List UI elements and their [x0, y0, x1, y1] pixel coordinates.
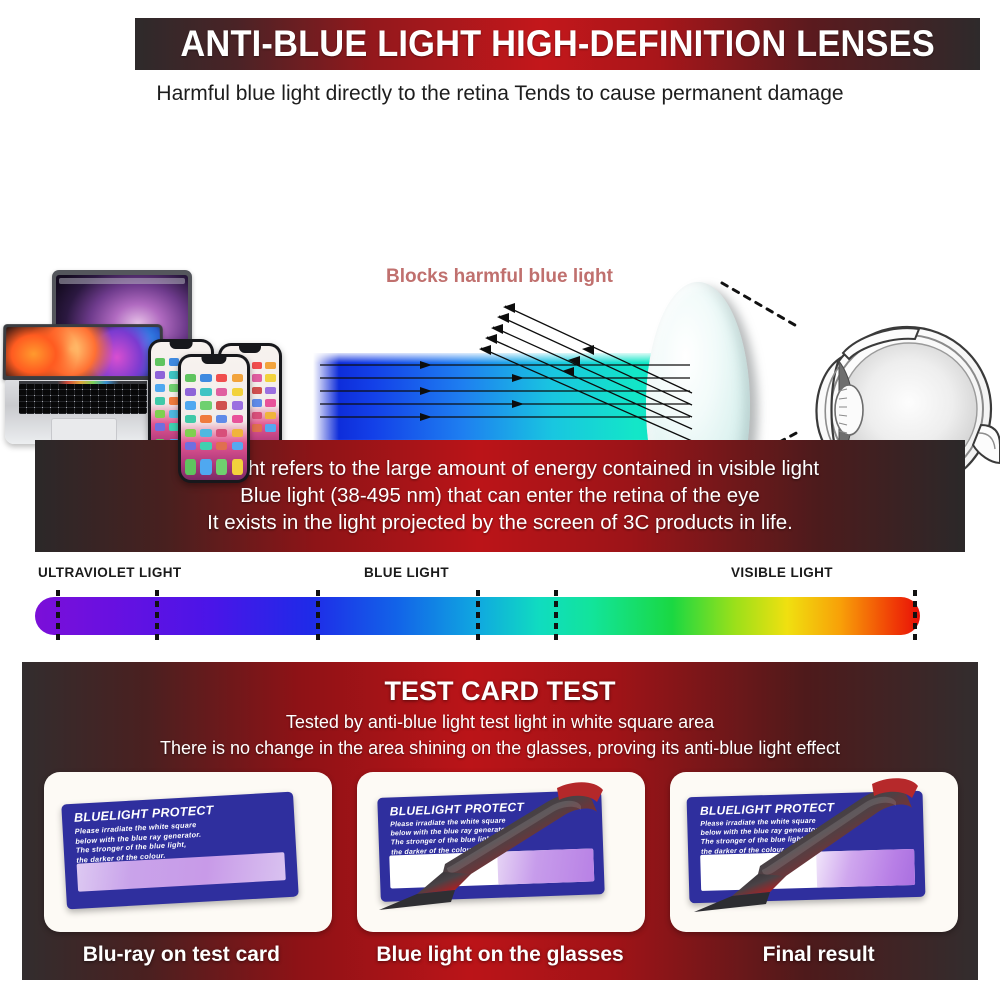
- laptop-device: [3, 324, 163, 446]
- phone-app-icon: [216, 388, 227, 396]
- phone-app-icon: [232, 442, 243, 450]
- phone-app-icon: [200, 442, 211, 450]
- bluelight-test-card: BLUELIGHT PROTECT Please irradiate the w…: [687, 791, 926, 904]
- phone-app-icon: [185, 429, 196, 437]
- panel-final-result: BLUELIGHT PROTECT Please irradiate the w…: [670, 772, 958, 932]
- phone-app-icon: [265, 374, 275, 382]
- spectrum-label-blue: BLUE LIGHT: [364, 565, 449, 580]
- phone-dock-icon: [232, 459, 243, 475]
- phone-notch: [239, 346, 261, 353]
- phone-dock-icon: [200, 459, 211, 475]
- blue-light-info-panel: Blue light refers to the large amount of…: [35, 440, 965, 552]
- light-ray-arrows: [300, 275, 720, 465]
- phone-app-icon: [265, 399, 275, 407]
- test-card-title: BLUELIGHT PROTECT: [700, 800, 835, 818]
- hero-illustration: Blocks harmful blue light: [0, 125, 1000, 430]
- test-card-purple-area: [497, 848, 594, 884]
- phone-app-icon: [232, 388, 243, 396]
- phone-app-icon: [252, 412, 262, 420]
- panel-captions-row: Blu-ray on test card Blue light on the g…: [22, 930, 978, 980]
- phone-app-icon: [252, 387, 262, 395]
- phone-app-icon: [155, 384, 165, 392]
- phone-app-icon: [155, 423, 165, 431]
- phone-notch: [170, 342, 193, 349]
- caption-blu-ray-on-test-card: Blu-ray on test card: [22, 943, 341, 967]
- test-section-title: TEST CARD TEST: [22, 676, 978, 707]
- phone-app-icon: [265, 424, 275, 432]
- laptop-base: [5, 380, 161, 444]
- phone-app-icon: [216, 401, 227, 409]
- phone-app-icon: [232, 401, 243, 409]
- laptop-trackpad: [51, 418, 117, 442]
- laptop-lid: [3, 324, 164, 380]
- laptop-keyboard: [19, 384, 147, 414]
- bluelight-test-card: BLUELIGHT PROTECT Please irradiate the w…: [61, 792, 298, 910]
- phone-app-icon: [252, 399, 262, 407]
- header-banner: ANTI-BLUE LIGHT HIGH-DEFINITION LENSES: [135, 18, 980, 70]
- phone-dock: [185, 459, 243, 475]
- info-line: Blue light (38-495 nm) that can enter th…: [240, 484, 760, 508]
- phone-app-icon: [155, 358, 165, 366]
- phone-app-icon: [252, 424, 262, 432]
- phone-app-icon: [155, 397, 165, 405]
- phone-app-icon: [185, 374, 196, 382]
- caption-final-result: Final result: [659, 943, 978, 967]
- phone-notch: [201, 357, 226, 364]
- spectrum-tick: [554, 590, 558, 642]
- monitor-menu-bar: [59, 278, 185, 284]
- spectrum-tick: [476, 590, 480, 642]
- phone-app-icon: [200, 401, 211, 409]
- phone-app-icon: [200, 388, 211, 396]
- panel-blue-light-on-the-glasses: BLUELIGHT PROTECT Please irradiate the w…: [357, 772, 645, 932]
- phone-app-icon: [185, 415, 196, 423]
- phone-app-icon: [185, 401, 196, 409]
- phone-app-icon: [200, 429, 211, 437]
- spectrum-tick: [913, 590, 917, 642]
- phone-app-icon: [232, 374, 243, 382]
- test-card-body: Please irradiate the white square below …: [700, 817, 821, 857]
- phone-dock-icon: [185, 459, 196, 475]
- phone-app-icon: [216, 429, 227, 437]
- test-section-subtitle: Tested by anti-blue light test light in …: [22, 712, 978, 733]
- spectrum-label-visible: VISIBLE LIGHT: [731, 565, 833, 580]
- spectrum-label-ultraviolet: ULTRAVIOLET LIGHT: [38, 565, 182, 580]
- info-line: It exists in the light projected by the …: [207, 511, 793, 535]
- phone-app-grid: [185, 374, 243, 450]
- phone-app-icon: [216, 374, 227, 382]
- phone-app-icon: [265, 412, 275, 420]
- phone-app-icon: [216, 442, 227, 450]
- phone-device: [178, 354, 250, 483]
- page-title: ANTI-BLUE LIGHT HIGH-DEFINITION LENSES: [180, 23, 935, 65]
- phone-app-icon: [185, 388, 196, 396]
- spectrum-tick: [56, 590, 60, 642]
- test-section-subtitle: There is no change in the area shining o…: [22, 738, 978, 759]
- phone-app-icon: [155, 410, 165, 418]
- phone-screen: [181, 357, 247, 480]
- panel-blu-ray-on-test-card: BLUELIGHT PROTECT Please irradiate the w…: [44, 772, 332, 932]
- spectrum-tick: [316, 590, 320, 642]
- info-line: Blue light refers to the large amount of…: [181, 457, 819, 481]
- phone-app-icon: [232, 415, 243, 423]
- phone-app-icon: [200, 415, 211, 423]
- phone-app-icon: [185, 442, 196, 450]
- phone-app-icon: [155, 371, 165, 379]
- header-subtitle: Harmful blue light directly to the retin…: [0, 82, 1000, 106]
- test-card-purple-area: [816, 849, 915, 888]
- phone-app-icon: [252, 374, 262, 382]
- phone-app-icon: [265, 387, 275, 395]
- caption-blue-light-on-the-glasses: Blue light on the glasses: [341, 943, 660, 967]
- phone-app-icon: [265, 362, 275, 370]
- phone-dock-icon: [216, 459, 227, 475]
- phone-app-icon: [216, 415, 227, 423]
- phone-app-icon: [232, 429, 243, 437]
- bluelight-test-card: BLUELIGHT PROTECT Please irradiate the w…: [377, 790, 604, 902]
- spectrum-tick: [155, 590, 159, 642]
- laptop-screen: [6, 327, 161, 376]
- phone-app-icon: [252, 362, 262, 370]
- phone-app-icon: [200, 374, 211, 382]
